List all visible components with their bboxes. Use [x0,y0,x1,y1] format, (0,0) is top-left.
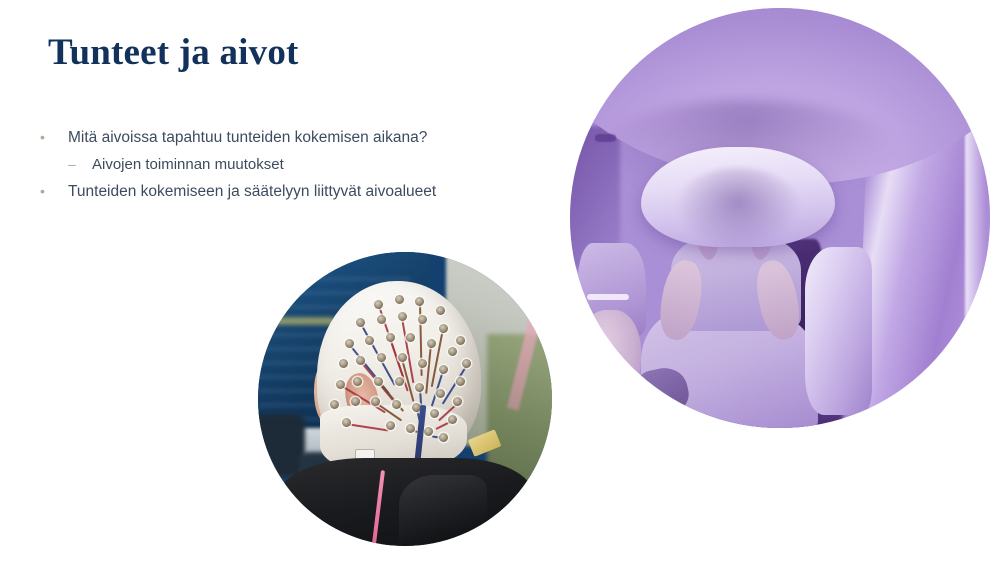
eeg-electrode [330,400,339,409]
eeg-electrode [386,333,395,342]
eeg-electrode [365,336,374,345]
page-title: Tunteet ja aivot [48,31,299,74]
eeg-electrode [377,315,386,324]
eeg-electrode [395,295,404,304]
list-item-label: Mitä aivoissa tapahtuu tunteiden kokemis… [68,126,540,149]
eeg-electrode [356,318,365,327]
eeg-electrode [427,339,436,348]
list-item-label: Tunteiden kokemiseen ja säätelyyn liitty… [68,180,540,203]
eeg-wire [431,329,444,388]
eeg-electrode [456,377,465,386]
eeg-electrode [448,415,457,424]
eeg-electrode [386,421,395,430]
eeg-photo-content [258,252,552,546]
list-item: • Tunteiden kokemiseen ja säätelyyn liit… [40,180,540,203]
eeg-electrode [351,397,360,406]
eeg-electrode [415,297,424,306]
eeg-electrode [336,380,345,389]
slide-canvas: Tunteet ja aivot • Mitä aivoissa tapahtu… [0,0,1000,566]
eeg-electrode [436,306,445,315]
bullet-marker-icon: • [40,180,68,203]
eeg-electrode [377,353,386,362]
eeg-electrode [374,377,383,386]
eeg-photo [258,252,552,546]
bullet-marker-icon: • [40,126,68,149]
list-item: • Mitä aivoissa tapahtuu tunteiden kokem… [40,126,540,149]
eeg-electrode [453,397,462,406]
eeg-electrode [456,336,465,345]
eeg-electrode [353,377,362,386]
bullet-marker-icon: – [68,153,92,176]
eeg-electrode [395,377,404,386]
eeg-electrode [439,433,448,442]
list-item-label: Aivojen toiminnan muutokset [92,153,540,176]
eeg-electrode [374,300,383,309]
eeg-electrode [339,359,348,368]
eeg-electrode [439,365,448,374]
eeg-electrode [448,347,457,356]
eeg-electrode [398,353,407,362]
eeg-electrode [430,409,439,418]
eeg-wire [346,423,388,431]
eeg-electrode [418,315,427,324]
eeg-electrode [406,333,415,342]
eeg-electrode [342,418,351,427]
bullet-list: • Mitä aivoissa tapahtuu tunteiden kokem… [40,126,540,207]
scanner-photo-content [570,8,990,428]
eeg-electrode [415,383,424,392]
eeg-electrode [418,359,427,368]
eeg-electrode [398,312,407,321]
eeg-electrode [436,389,445,398]
list-item: – Aivojen toiminnan muutokset [40,153,540,176]
eeg-electrode [462,359,471,368]
eeg-electrode [439,324,448,333]
eeg-electrode [345,339,354,348]
eeg-electrode [424,427,433,436]
scanner-photo [570,8,990,428]
